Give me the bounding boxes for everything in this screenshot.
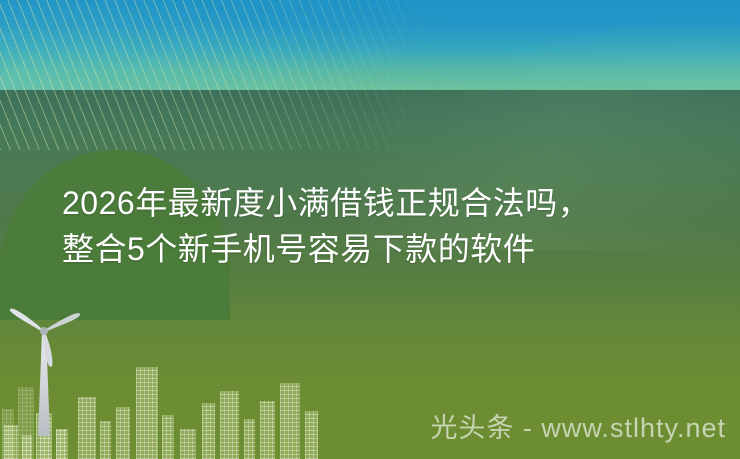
title-line-1: 2026年最新度小满借钱正规合法吗， xyxy=(62,180,682,226)
title-line-2: 整合5个新手机号容易下款的软件 xyxy=(62,226,682,272)
wind-turbine-icon xyxy=(2,298,112,438)
page-title: 2026年最新度小满借钱正规合法吗， 整合5个新手机号容易下款的软件 xyxy=(62,180,682,272)
site-watermark: 光头条 - www.stlhty.net xyxy=(430,406,726,445)
diagonal-hatch-lines xyxy=(0,0,470,150)
cover-image-canvas: 2026年最新度小满借钱正规合法吗， 整合5个新手机号容易下款的软件 光头条 -… xyxy=(0,0,740,459)
